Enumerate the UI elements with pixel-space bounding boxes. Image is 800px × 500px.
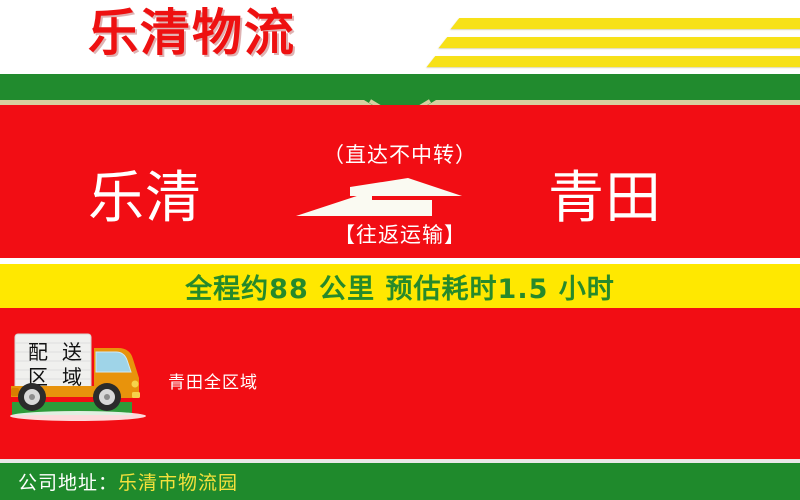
route-note-roundtrip: 【往返运输】 (0, 219, 800, 249)
company-address-value: 乐清市物流园 (118, 468, 238, 495)
truck-box-char-0: 配 (28, 340, 48, 364)
truck-box-char-3: 域 (62, 365, 82, 389)
distance-summary-text: 全程约88 公里 预估耗时1.5 小时 (185, 267, 615, 306)
truck-box-char-1: 送 (62, 340, 82, 364)
bidirectional-arrow-icon (290, 176, 490, 218)
decorative-stripe-1 (451, 18, 800, 29)
decorative-stripe-3 (427, 56, 800, 67)
banner-footer: 公司地址： 乐清市物流园 (0, 463, 800, 500)
route-note-direct: （直达不中转） (0, 139, 800, 169)
company-address-label: 公司地址： (18, 468, 118, 495)
logistics-banner: 乐清物流 乐清 青田 （直达不中转） 【往返运输】 全程约88 公里 预估耗时1… (0, 0, 800, 500)
decorative-stripe-2 (439, 37, 800, 48)
coverage-area-label: 青田全区域 (168, 368, 258, 393)
brand-title: 乐清物流 (88, 4, 296, 62)
delivery-truck-icon: 配 送 区 域 (6, 326, 154, 424)
banner-header: 乐清物流 (0, 0, 800, 74)
distance-band: 全程约88 公里 预估耗时1.5 小时 (0, 264, 800, 308)
